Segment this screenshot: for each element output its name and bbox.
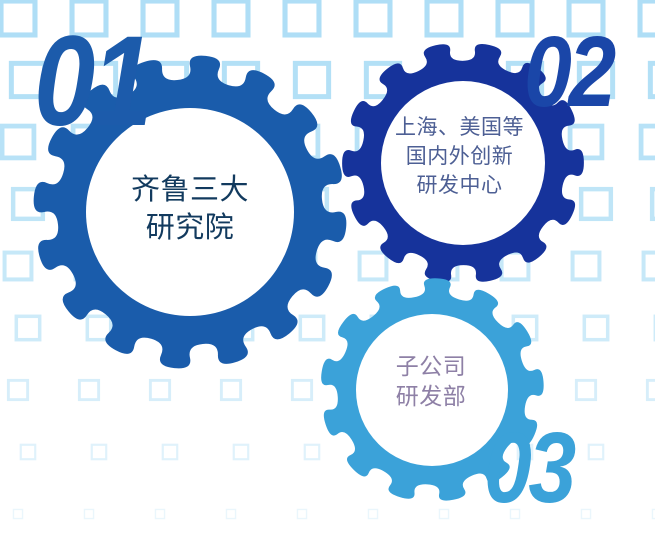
gear-number-02: 02 [524,22,613,122]
gear-number-03: 03 [484,418,573,518]
gear-infographic: 齐鲁三大 研究院 上海、美国等 国内外创新 研发中心 子公司 研发部 01 02… [0,0,655,545]
gear-label-01: 齐鲁三大 研究院 [95,172,285,247]
gear-label-02: 上海、美国等 国内外创新 研发中心 [377,114,542,201]
gear-label-03: 子公司 研发部 [370,352,492,412]
gear-number-01: 01 [34,18,150,146]
